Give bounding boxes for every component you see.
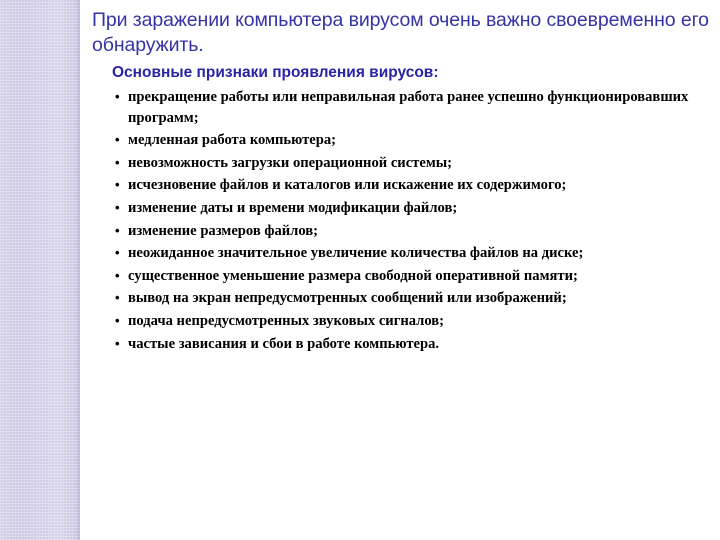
bullet-dot-icon: • xyxy=(115,87,120,106)
side-band-texture xyxy=(0,0,80,540)
slide-body: Основные признаки проявления вирусов: •п… xyxy=(110,62,714,356)
list-item-label: медленная работа компьютера; xyxy=(128,130,714,151)
bullet-dot-icon: • xyxy=(115,175,120,194)
list-item-label: прекращение работы или неправильная рабо… xyxy=(128,87,714,128)
list-item: •прекращение работы или неправильная раб… xyxy=(110,87,714,128)
list-item: •изменение даты и времени модификации фа… xyxy=(110,198,714,219)
side-band-edge xyxy=(78,0,80,540)
presentation-slide: При заражении компьютера вирусом очень в… xyxy=(0,0,720,540)
list-item: •исчезновение файлов и каталогов или иск… xyxy=(110,175,714,196)
bullet-dot-icon: • xyxy=(115,288,120,307)
slide-title: При заражении компьютера вирусом очень в… xyxy=(92,8,710,58)
list-item: •изменение размеров файлов; xyxy=(110,221,714,242)
list-item: •вывод на экран непредусмотренных сообще… xyxy=(110,288,714,309)
list-item: •частые зависания и сбои в работе компью… xyxy=(110,334,714,355)
bullet-dot-icon: • xyxy=(115,266,120,285)
bullet-dot-icon: • xyxy=(115,243,120,262)
bullet-dot-icon: • xyxy=(115,334,120,353)
list-item-label: подача непредусмотренных звуковых сигнал… xyxy=(128,311,714,332)
list-item-label: частые зависания и сбои в работе компьют… xyxy=(128,334,714,355)
list-item-label: существенное уменьшение размера свободно… xyxy=(128,266,714,287)
list-item: •невозможность загрузки операционной сис… xyxy=(110,153,714,174)
list-item: •существенное уменьшение размера свободн… xyxy=(110,266,714,287)
list-item: •медленная работа компьютера; xyxy=(110,130,714,151)
bullet-dot-icon: • xyxy=(115,198,120,217)
list-item-label: неожиданное значительное увеличение коли… xyxy=(128,243,714,264)
section-subheading: Основные признаки проявления вирусов: xyxy=(112,62,714,83)
list-item-label: невозможность загрузки операционной сист… xyxy=(128,153,714,174)
virus-signs-list: •прекращение работы или неправильная раб… xyxy=(110,87,714,354)
list-item-label: изменение размеров файлов; xyxy=(128,221,714,242)
bullet-dot-icon: • xyxy=(115,311,120,330)
bullet-dot-icon: • xyxy=(115,153,120,172)
decorative-side-band xyxy=(0,0,80,540)
list-item: •неожиданное значительное увеличение кол… xyxy=(110,243,714,264)
list-item-label: вывод на экран непредусмотренных сообщен… xyxy=(128,288,714,309)
bullet-dot-icon: • xyxy=(115,221,120,240)
bullet-dot-icon: • xyxy=(115,130,120,149)
list-item-label: изменение даты и времени модификации фай… xyxy=(128,198,714,219)
list-item-label: исчезновение файлов и каталогов или иска… xyxy=(128,175,714,196)
list-item: •подача непредусмотренных звуковых сигна… xyxy=(110,311,714,332)
